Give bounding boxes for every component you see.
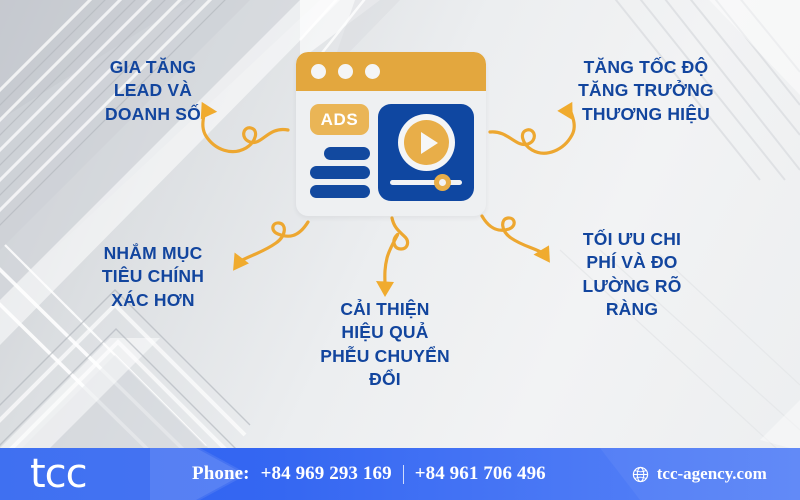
content-bar-2 [310,166,370,179]
window-dot-3 [365,64,380,79]
footer-phone-block: Phone: +84 969 293 169 +84 961 706 496 [192,463,546,485]
website-url: tcc-agency.com [657,464,767,484]
footer-website-block[interactable]: tcc-agency.com [632,464,767,484]
play-button-icon [404,120,449,165]
tcc-logo-text: tcc [30,454,87,494]
callout-improve-funnel: CẢI THIỆN HIỆU QUẢ PHỄU CHUYỂN ĐỔI [308,298,462,391]
progress-knob-center [439,179,446,186]
window-dot-2 [338,64,353,79]
phone-label: Phone: [192,463,250,485]
infographic-canvas: ADS GIA TĂNG LEAD VÀ DOANH SỐ TĂNG TỐC Đ… [0,0,800,500]
tcc-logo[interactable]: tcc [0,448,178,500]
phone-divider [403,465,404,484]
progress-knob-icon [434,174,451,191]
play-button-ring [398,114,455,171]
phone-number-primary[interactable]: +84 969 293 169 [261,463,392,485]
callout-increase-leads-sales: GIA TĂNG LEAD VÀ DOANH SỐ [78,56,228,126]
play-triangle-icon [421,132,438,154]
callout-accelerate-brand-growth: TĂNG TỐC ĐỘ TĂNG TRƯỞNG THƯƠNG HIỆU [560,56,732,126]
content-bar-3 [310,185,370,198]
phone-number-secondary[interactable]: +84 961 706 496 [415,463,546,485]
ads-video-illustration: ADS [296,52,486,216]
browser-titlebar [296,52,486,91]
progress-track [390,180,462,185]
video-player-panel [378,104,474,201]
footer-contact-bar: tcc Phone: +84 969 293 169 +84 961 706 4… [0,448,800,500]
ads-badge: ADS [310,104,369,135]
globe-icon [632,466,649,483]
browser-window: ADS [296,52,486,216]
window-dot-1 [311,64,326,79]
callout-optimize-cost-measure: TỐI ƯU CHI PHÍ VÀ ĐO LƯỜNG RÕ RÀNG [552,228,712,321]
content-bar-1 [324,147,370,160]
callout-precise-targeting: NHẮM MỤC TIÊU CHÍNH XÁC HƠN [78,242,228,312]
